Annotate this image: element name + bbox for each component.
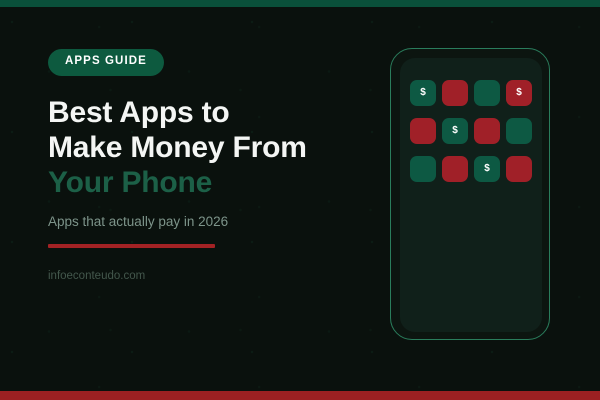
app-icon-grid: $$$$ (410, 80, 532, 182)
dollar-icon: $ (452, 126, 458, 136)
app-tile (474, 80, 500, 106)
dollar-icon: $ (516, 88, 522, 98)
headline: Best Apps to Make Money From Your Phone (48, 95, 378, 200)
subtitle: Apps that actually pay in 2026 (48, 213, 378, 231)
app-tile: $ (506, 80, 532, 106)
app-tile: $ (442, 118, 468, 144)
headline-line-3: Your Phone (48, 165, 378, 200)
top-accent-bar (0, 0, 600, 7)
app-tile (442, 156, 468, 182)
text-content-column: APPS GUIDE Best Apps to Make Money From … (48, 49, 378, 282)
phone-illustration: $$$$ (390, 48, 550, 340)
category-badge-label: APPS GUIDE (65, 55, 147, 67)
dollar-icon: $ (420, 88, 426, 98)
phone-screen: $$$$ (400, 58, 542, 332)
app-tile (506, 156, 532, 182)
app-tile (410, 156, 436, 182)
promo-banner: APPS GUIDE Best Apps to Make Money From … (0, 0, 600, 400)
app-tile (410, 118, 436, 144)
app-tile (474, 118, 500, 144)
category-badge: APPS GUIDE (48, 49, 164, 76)
dollar-icon: $ (484, 164, 490, 174)
red-divider-rule (48, 244, 215, 248)
headline-line-1: Best Apps to (48, 95, 378, 130)
app-tile: $ (410, 80, 436, 106)
app-tile: $ (474, 156, 500, 182)
bottom-accent-bar (0, 391, 600, 400)
site-url: infoeconteudo.com (48, 270, 378, 282)
app-tile (506, 118, 532, 144)
headline-line-2: Make Money From (48, 130, 378, 165)
app-tile (442, 80, 468, 106)
